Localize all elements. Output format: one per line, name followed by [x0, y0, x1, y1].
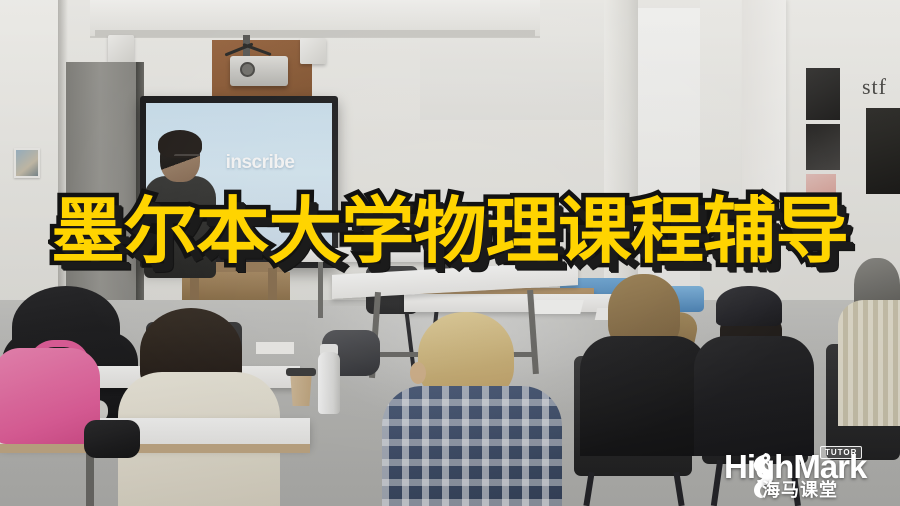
student-cap-body: [694, 336, 814, 456]
wall-poster: [866, 108, 900, 194]
paper-sheet: [532, 300, 583, 314]
projector-arms: [224, 42, 274, 56]
student-ear: [410, 362, 426, 384]
water-bottle: [318, 352, 340, 414]
table: [404, 294, 624, 312]
student-striped-body: [838, 300, 900, 426]
table-leg: [86, 452, 94, 506]
pencil-case: [84, 420, 140, 458]
wall-poster: [806, 174, 836, 210]
student-cap-head: [716, 286, 782, 326]
wall-column: [742, 0, 786, 215]
table: [300, 248, 460, 262]
paper-sheet: [256, 342, 294, 354]
projector-lens: [240, 62, 255, 77]
cup-lid: [286, 368, 316, 376]
ceiling-speaker: [300, 38, 326, 64]
window-strip: [638, 8, 704, 308]
projector-icon: [230, 56, 288, 86]
table-edge: [0, 444, 310, 453]
student-ponytail-body: [580, 336, 708, 456]
video-frame: stf inscribe: [0, 0, 900, 506]
screen-logo-text: inscribe: [200, 148, 320, 178]
student-plaid-body: [382, 386, 562, 506]
wall-poster: [806, 124, 840, 170]
ceiling-rail: [95, 30, 535, 37]
glasses-icon: [174, 154, 200, 163]
ceiling-speaker: [108, 35, 134, 63]
wall-picture: [14, 148, 40, 178]
table-leg: [318, 262, 323, 318]
wall-poster: [806, 68, 840, 120]
wall-lettering: stf: [862, 74, 900, 100]
presenter-body: [144, 176, 216, 278]
